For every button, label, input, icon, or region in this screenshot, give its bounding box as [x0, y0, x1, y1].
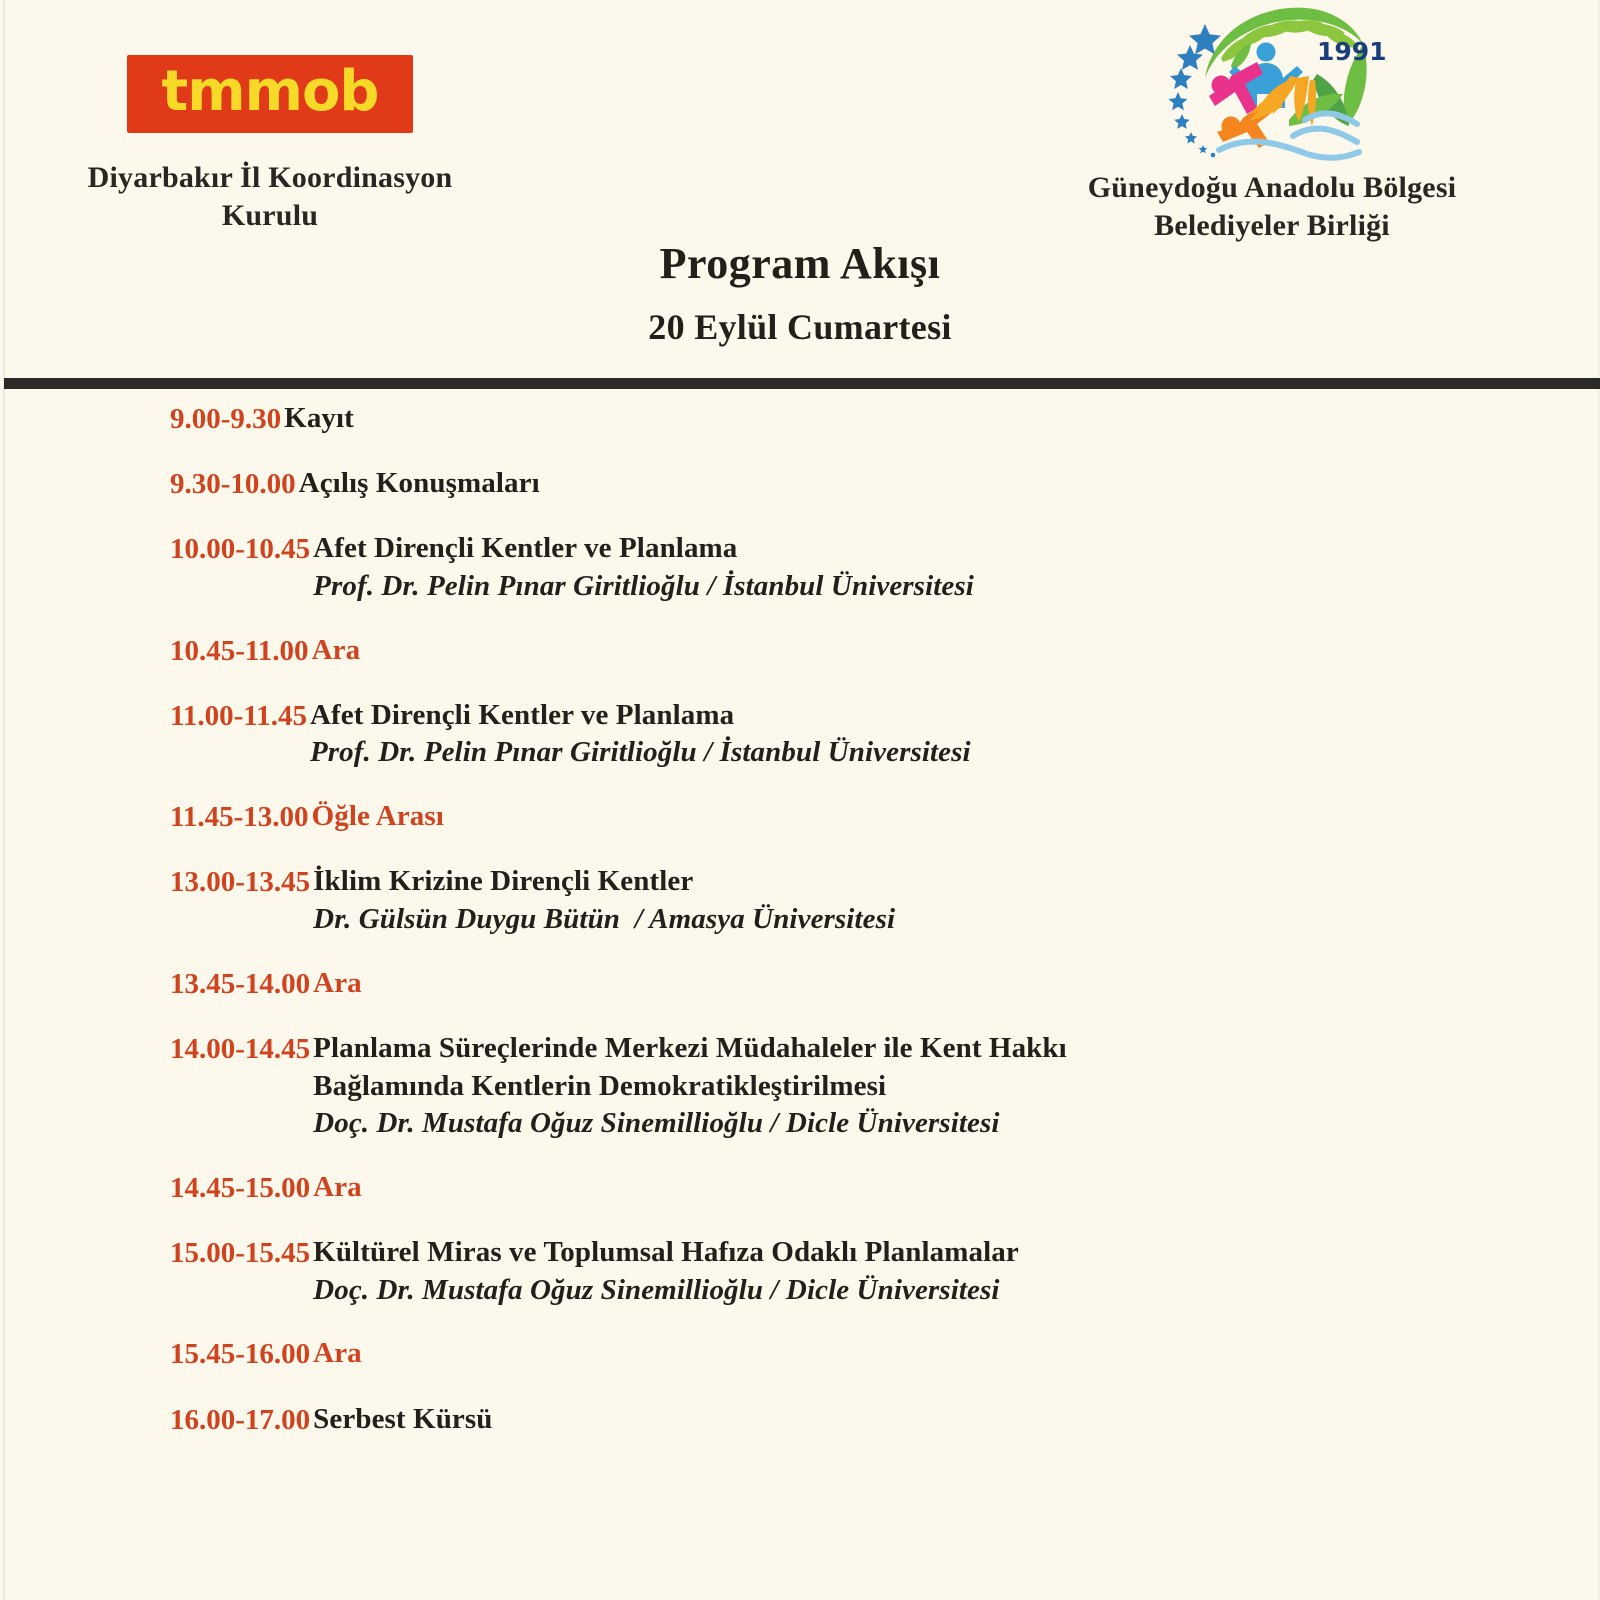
schedule-row-title: Ara	[312, 632, 1600, 670]
schedule-row: 13.00-13.45İklim Krizine Dirençli Kentle…	[0, 863, 1600, 938]
schedule-row: 13.45-14.00Ara	[0, 965, 1600, 1004]
schedule-row-body: Serbest Kürsü	[310, 1401, 1600, 1439]
schedule-row-time: 16.00-17.00	[0, 1401, 310, 1440]
schedule-row-title: Ara	[313, 1335, 1600, 1373]
schedule-row-title: Serbest Kürsü	[313, 1401, 1600, 1439]
schedule-row-title: Afet Dirençli Kentler ve Planlama	[313, 530, 1600, 568]
schedule-row-body: Ara	[310, 1335, 1600, 1373]
schedule-row-title: Öğle Arası	[312, 798, 1600, 836]
schedule-row-body: Ara	[309, 632, 1600, 670]
header-divider	[4, 378, 1600, 389]
schedule-row: 15.00-15.45Kültürel Miras ve Toplumsal H…	[0, 1234, 1600, 1309]
schedule-row-title: Bağlamında Kentlerin Demokratikleştirilm…	[313, 1068, 1600, 1106]
page-title: Program Akışı	[0, 240, 1600, 288]
schedule-row-speaker: Doç. Dr. Mustafa Oğuz Sinemillioğlu / Di…	[313, 1105, 1600, 1143]
gabb-emblem-icon: 1991	[1157, 0, 1387, 165]
schedule-row-body: İklim Krizine Dirençli KentlerDr. Gülsün…	[310, 863, 1600, 938]
schedule-list: 9.00-9.30Kayıt9.30-10.00Açılış Konuşmala…	[0, 400, 1600, 1466]
schedule-row: 11.00-11.45Afet Dirençli Kentler ve Plan…	[0, 697, 1600, 772]
schedule-row-time: 11.00-11.45	[0, 697, 307, 736]
gabb-org-block: 1991 Güneydoğu Anadolu Bölgesi Belediyel…	[952, 0, 1592, 246]
schedule-row-speaker: Prof. Dr. Pelin Pınar Giritlioğlu / İsta…	[310, 734, 1600, 772]
schedule-row-body: Afet Dirençli Kentler ve PlanlamaProf. D…	[307, 697, 1600, 772]
schedule-row-body: Açılış Konuşmaları	[296, 465, 1600, 503]
schedule-row-body: Afet Dirençli Kentler ve PlanlamaProf. D…	[310, 530, 1600, 605]
gabb-caption: Güneydoğu Anadolu Bölgesi Belediyeler Bi…	[952, 169, 1592, 246]
schedule-row-title: Kayıt	[284, 400, 1600, 438]
schedule-row: 9.30-10.00Açılış Konuşmaları	[0, 465, 1600, 504]
schedule-row: 14.00-14.45Planlama Süreçlerinde Merkezi…	[0, 1030, 1600, 1143]
schedule-row: 16.00-17.00Serbest Kürsü	[0, 1401, 1600, 1440]
tmmob-caption-line1: Diyarbakır İl Koordinasyon	[0, 159, 540, 197]
schedule-row-time: 9.00-9.30	[0, 400, 281, 439]
schedule-row-time: 15.45-16.00	[0, 1335, 310, 1374]
schedule-row-time: 13.45-14.00	[0, 965, 310, 1004]
schedule-row-time: 10.45-11.00	[0, 632, 309, 671]
tmmob-caption-line2: Kurulu	[0, 197, 540, 235]
schedule-row-time: 10.00-10.45	[0, 530, 310, 569]
schedule-row: 10.00-10.45Afet Dirençli Kentler ve Plan…	[0, 530, 1600, 605]
emblem-year-text: 1991	[1317, 37, 1387, 66]
schedule-row-body: Ara	[310, 965, 1600, 1003]
schedule-row-body: Kayıt	[281, 400, 1600, 438]
schedule-row-time: 11.45-13.00	[0, 798, 309, 837]
schedule-row-title: Kültürel Miras ve Toplumsal Hafıza Odakl…	[313, 1234, 1600, 1272]
gabb-caption-line1: Güneydoğu Anadolu Bölgesi	[952, 169, 1592, 207]
schedule-row-title: Planlama Süreçlerinde Merkezi Müdahalele…	[313, 1030, 1600, 1068]
schedule-row-body: Kültürel Miras ve Toplumsal Hafıza Odakl…	[310, 1234, 1600, 1309]
schedule-row-speaker: Prof. Dr. Pelin Pınar Giritlioğlu / İsta…	[313, 568, 1600, 606]
tmmob-org-block: tmmob Diyarbakır İl Koordinasyon Kurulu	[0, 55, 540, 236]
schedule-row-body: Planlama Süreçlerinde Merkezi Müdahalele…	[310, 1030, 1600, 1143]
schedule-row-time: 14.45-15.00	[0, 1169, 310, 1208]
schedule-row: 14.45-15.00Ara	[0, 1169, 1600, 1208]
page-subtitle: 20 Eylül Cumartesi	[0, 308, 1600, 348]
schedule-row-title: Ara	[313, 1169, 1600, 1207]
program-poster: tmmob Diyarbakır İl Koordinasyon Kurulu	[0, 0, 1600, 1600]
schedule-row-title: Açılış Konuşmaları	[299, 465, 1600, 503]
schedule-row: 10.45-11.00Ara	[0, 632, 1600, 671]
schedule-row-speaker: Doç. Dr. Mustafa Oğuz Sinemillioğlu / Di…	[313, 1272, 1600, 1310]
schedule-row: 9.00-9.30Kayıt	[0, 400, 1600, 439]
schedule-row-body: Öğle Arası	[309, 798, 1600, 836]
schedule-row-title: İklim Krizine Dirençli Kentler	[313, 863, 1600, 901]
schedule-row-speaker: Dr. Gülsün Duygu Bütün / Amasya Üniversi…	[313, 901, 1600, 939]
schedule-row: 15.45-16.00Ara	[0, 1335, 1600, 1374]
schedule-row: 11.45-13.00Öğle Arası	[0, 798, 1600, 837]
schedule-row-time: 15.00-15.45	[0, 1234, 310, 1273]
poster-header: tmmob Diyarbakır İl Koordinasyon Kurulu	[0, 0, 1600, 380]
tmmob-caption: Diyarbakır İl Koordinasyon Kurulu	[0, 159, 540, 236]
title-block: Program Akışı 20 Eylül Cumartesi	[0, 240, 1600, 348]
tmmob-logo-text: tmmob	[161, 59, 378, 124]
schedule-row-title: Ara	[313, 965, 1600, 1003]
schedule-row-time: 9.30-10.00	[0, 465, 296, 504]
schedule-row-title: Afet Dirençli Kentler ve Planlama	[310, 697, 1600, 735]
schedule-row-body: Ara	[310, 1169, 1600, 1207]
schedule-row-time: 13.00-13.45	[0, 863, 310, 902]
schedule-row-time: 14.00-14.45	[0, 1030, 310, 1069]
star-arc-icon	[1169, 24, 1222, 157]
tmmob-logo: tmmob	[127, 55, 412, 133]
